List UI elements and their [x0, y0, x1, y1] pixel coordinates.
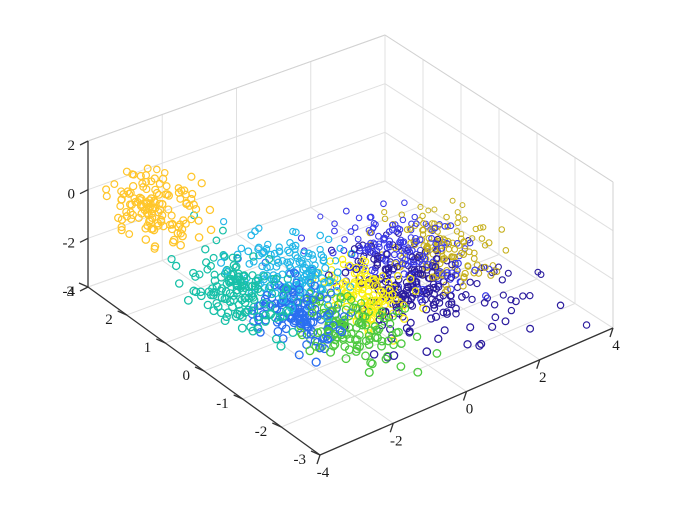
data-point: [444, 214, 449, 219]
data-point: [462, 217, 467, 222]
data-point: [248, 232, 255, 239]
data-point: [362, 352, 370, 360]
data-point: [503, 248, 509, 254]
data-point: [142, 236, 149, 243]
data-point: [130, 183, 137, 190]
axis-tick-z: [80, 190, 88, 194]
data-point: [195, 217, 202, 224]
scatter3d-canvas[interactable]: -4-202-3-2-10123-4-2024: [0, 0, 677, 508]
data-point: [455, 220, 460, 225]
data-point: [583, 322, 589, 328]
data-point: [520, 293, 526, 299]
data-point: [210, 254, 217, 261]
data-point: [471, 256, 477, 262]
data-point: [409, 303, 416, 310]
tick-label-y: 0: [183, 368, 191, 384]
data-point: [238, 245, 245, 252]
data-point: [318, 214, 323, 219]
data-point: [221, 219, 227, 225]
data-point: [331, 341, 339, 349]
data-point: [111, 181, 118, 188]
tick-label-y: -2: [255, 424, 268, 440]
data-point: [343, 208, 349, 214]
scatter3d-figure: -4-202-3-2-10123-4-2024: [0, 0, 677, 508]
data-point: [103, 193, 110, 200]
data-point: [274, 328, 282, 336]
data-point: [423, 348, 430, 355]
data-point: [198, 180, 205, 187]
tick-label-y: 2: [105, 312, 113, 328]
data-point: [365, 368, 373, 376]
data-point: [433, 350, 440, 357]
data-point: [446, 247, 451, 252]
data-point: [467, 324, 474, 331]
data-point: [342, 355, 350, 363]
data-point: [378, 342, 386, 350]
data-point: [456, 215, 461, 220]
data-point: [441, 327, 448, 334]
data-point: [382, 210, 387, 215]
data-point: [185, 296, 193, 304]
axis-tick-z: [80, 141, 88, 145]
axis-tick-y: [79, 283, 88, 287]
data-point: [492, 314, 499, 321]
tick-label-x: 4: [612, 338, 620, 354]
axis-tick-z: [80, 287, 88, 291]
data-point: [557, 302, 563, 308]
data-point: [163, 183, 170, 190]
data-point: [450, 198, 455, 203]
data-point: [289, 329, 297, 337]
data-point: [342, 237, 348, 243]
data-point: [220, 227, 227, 234]
data-point: [206, 206, 213, 213]
data-point: [464, 341, 471, 348]
data-point: [173, 262, 180, 269]
data-point: [400, 217, 405, 222]
data-point: [413, 333, 420, 340]
data-point: [265, 241, 271, 247]
data-point: [479, 236, 485, 242]
data-point: [195, 234, 202, 241]
data-point: [502, 318, 509, 325]
data-point: [322, 265, 329, 272]
data-point: [310, 256, 317, 263]
data-point: [412, 214, 417, 219]
data-point: [469, 296, 475, 302]
data-point: [387, 320, 394, 327]
data-point: [188, 173, 195, 180]
data-point: [168, 212, 175, 219]
data-point: [356, 215, 362, 221]
data-point: [499, 227, 505, 233]
axis-tick-x: [317, 455, 320, 464]
tick-label-y: -3: [294, 452, 307, 468]
data-point: [401, 315, 408, 322]
data-point: [203, 259, 210, 266]
data-point: [420, 213, 425, 218]
data-point: [342, 269, 349, 276]
data-point: [499, 277, 505, 283]
data-point: [452, 247, 458, 253]
data-point: [527, 325, 534, 332]
axis-tick-z: [80, 238, 88, 242]
data-point: [505, 270, 511, 276]
data-point: [207, 226, 214, 233]
tick-label-x: 2: [539, 370, 547, 386]
data-point: [312, 358, 320, 366]
data-point: [103, 186, 110, 193]
tick-label-x: -4: [317, 465, 330, 481]
data-point: [527, 293, 533, 299]
tick-label-x: -2: [390, 433, 403, 449]
data-point: [298, 235, 304, 241]
data-point: [398, 340, 405, 347]
data-point: [334, 269, 341, 276]
data-point: [381, 201, 387, 207]
tick-label-z: 2: [68, 138, 76, 154]
data-point: [455, 210, 460, 215]
tick-label-y: 1: [144, 340, 152, 356]
data-point: [168, 256, 175, 263]
tick-label-y: 3: [67, 284, 75, 300]
data-point: [239, 324, 247, 332]
data-point: [317, 232, 323, 238]
data-point: [176, 280, 183, 287]
data-point: [160, 175, 167, 182]
data-point: [327, 348, 335, 356]
data-point: [154, 166, 160, 172]
data-point: [126, 231, 133, 238]
data-point: [332, 228, 338, 234]
tick-label-y: -1: [216, 396, 229, 412]
data-point: [491, 302, 497, 308]
data-point: [202, 246, 209, 253]
data-point: [435, 335, 442, 342]
tick-label-z: -2: [63, 235, 76, 251]
grid-lines: [88, 35, 613, 455]
data-point: [177, 242, 184, 249]
data-point: [370, 351, 377, 358]
data-point: [432, 207, 437, 212]
tick-label-z: 0: [68, 187, 76, 203]
data-point: [397, 363, 405, 371]
data-point: [306, 347, 314, 355]
data-point: [467, 279, 473, 285]
data-point: [402, 200, 408, 206]
data-point: [204, 301, 211, 308]
data-point: [123, 168, 130, 175]
data-point: [218, 259, 225, 266]
data-point: [474, 281, 480, 287]
tick-label-x: 0: [466, 402, 474, 418]
data-point: [508, 307, 514, 313]
